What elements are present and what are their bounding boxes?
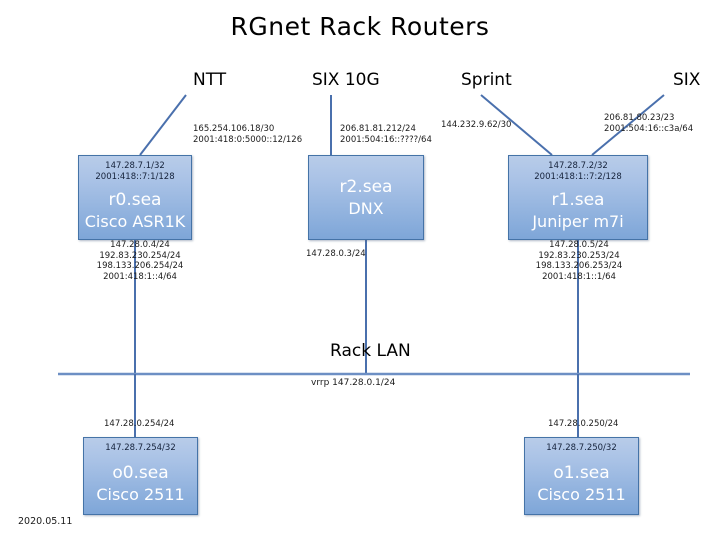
uplink-ntt-ipv4: 165.254.106.18/30	[193, 124, 302, 135]
console-o1-hostname: o1.sea	[553, 463, 609, 484]
router-r0-hostname: r0.sea	[109, 190, 162, 211]
router-r1-lan-addr-1: 192.83.230.253/24	[533, 251, 625, 262]
router-r1-loopback-v4: 147.28.7.2/32	[534, 161, 622, 172]
router-r1-loopback-v6: 2001:418:1::7:2/128	[534, 172, 622, 183]
link-ntt-r0	[140, 95, 186, 155]
rack-lan-label: Rack LAN	[330, 341, 411, 361]
console-o0-identity: o0.sea Cisco 2511	[84, 454, 197, 515]
console-o0-hostname: o0.sea	[112, 463, 168, 484]
diagram-canvas: RGnet Rack Routers NTT SIX 10G Sprint SI…	[0, 0, 720, 540]
router-r1-lan-addresses: 147.28.0.5/24 192.83.230.253/24 198.133.…	[533, 240, 625, 282]
router-r2-lan-addr-0: 147.28.0.3/24	[306, 249, 366, 260]
router-r0-lan-addresses: 147.28.0.4/24 192.83.230.254/24 198.133.…	[95, 240, 185, 282]
console-o0-lan-address-label: 147.28.0.254/24	[104, 419, 174, 430]
router-r1-loopbacks: 147.28.7.2/32 2001:418:1::7:2/128	[534, 161, 622, 182]
router-r0-model: Cisco ASR1K	[85, 211, 186, 232]
router-r0-loopback-v4: 147.28.7.1/32	[95, 161, 174, 172]
footer-date: 2020.05.11	[18, 516, 72, 527]
page-title: RGnet Rack Routers	[0, 12, 720, 41]
uplink-label-sprint: Sprint	[461, 70, 512, 90]
router-r0-identity: r0.sea Cisco ASR1K	[79, 182, 191, 239]
console-o0-loopback-v4: 147.28.7.254/32	[105, 443, 175, 454]
uplink-addresses-sprint: 144.232.9.62/30	[441, 120, 511, 131]
router-r2-hostname: r2.sea	[340, 177, 393, 198]
uplink-addresses-six10g: 206.81.81.212/24 2001:504:16::????/64	[340, 124, 432, 145]
console-o1-loopback-v4: 147.28.7.250/32	[546, 443, 616, 454]
router-r1-hostname: r1.sea	[552, 190, 605, 211]
uplink-six-ipv4: 206.81.80.23/23	[604, 113, 693, 124]
uplink-label-six10g: SIX 10G	[312, 70, 380, 90]
router-r1-identity: r1.sea Juniper m7i	[509, 182, 647, 239]
router-r2-lan-addresses: 147.28.0.3/24	[306, 249, 366, 260]
router-node-r2[interactable]: r2.sea DNX	[308, 155, 424, 240]
uplink-six10g-ipv4: 206.81.81.212/24	[340, 124, 432, 135]
uplink-ntt-ipv6: 2001:418:0:5000::12/126	[193, 135, 302, 146]
uplink-addresses-ntt: 165.254.106.18/30 2001:418:0:5000::12/12…	[193, 124, 302, 145]
uplink-six10g-ipv6: 2001:504:16::????/64	[340, 135, 432, 146]
router-r2-model: DNX	[348, 198, 383, 219]
router-node-r1[interactable]: 147.28.7.2/32 2001:418:1::7:2/128 r1.sea…	[508, 155, 648, 240]
router-r0-lan-addr-1: 192.83.230.254/24	[95, 251, 185, 262]
uplink-six-ipv6: 2001:504:16::c3a/64	[604, 124, 693, 135]
console-o1-lan-address-label: 147.28.0.250/24	[548, 419, 618, 430]
router-r0-lan-addr-0: 147.28.0.4/24	[95, 240, 185, 251]
router-r1-lan-addr-2: 198.133.206.253/24	[533, 261, 625, 272]
console-o1-loopback: 147.28.7.250/32	[546, 443, 616, 454]
router-r0-loopbacks: 147.28.7.1/32 2001:418::7:1/128	[95, 161, 174, 182]
router-r2-identity: r2.sea DNX	[309, 156, 423, 239]
router-r1-lan-addr-3: 2001:418:1::1/64	[533, 272, 625, 283]
console-o1-model: Cisco 2511	[537, 484, 625, 505]
rack-lan-vrrp-label: vrrp 147.28.0.1/24	[311, 378, 395, 388]
router-r1-model: Juniper m7i	[532, 211, 623, 232]
router-r0-loopback-v6: 2001:418::7:1/128	[95, 172, 174, 183]
console-o1-identity: o1.sea Cisco 2511	[525, 454, 638, 515]
console-node-o0[interactable]: 147.28.7.254/32 o0.sea Cisco 2511	[83, 437, 198, 515]
uplink-sprint-ipv4: 144.232.9.62/30	[441, 120, 511, 131]
uplink-addresses-six: 206.81.80.23/23 2001:504:16::c3a/64	[604, 113, 693, 134]
router-node-r0[interactable]: 147.28.7.1/32 2001:418::7:1/128 r0.sea C…	[78, 155, 192, 240]
console-node-o1[interactable]: 147.28.7.250/32 o1.sea Cisco 2511	[524, 437, 639, 515]
router-r1-lan-addr-0: 147.28.0.5/24	[533, 240, 625, 251]
uplink-label-six: SIX	[673, 70, 700, 90]
console-o0-loopback: 147.28.7.254/32	[105, 443, 175, 454]
uplink-label-ntt: NTT	[193, 70, 226, 90]
console-o0-model: Cisco 2511	[96, 484, 184, 505]
router-r0-lan-addr-3: 2001:418:1::4/64	[95, 272, 185, 283]
router-r0-lan-addr-2: 198.133.206.254/24	[95, 261, 185, 272]
